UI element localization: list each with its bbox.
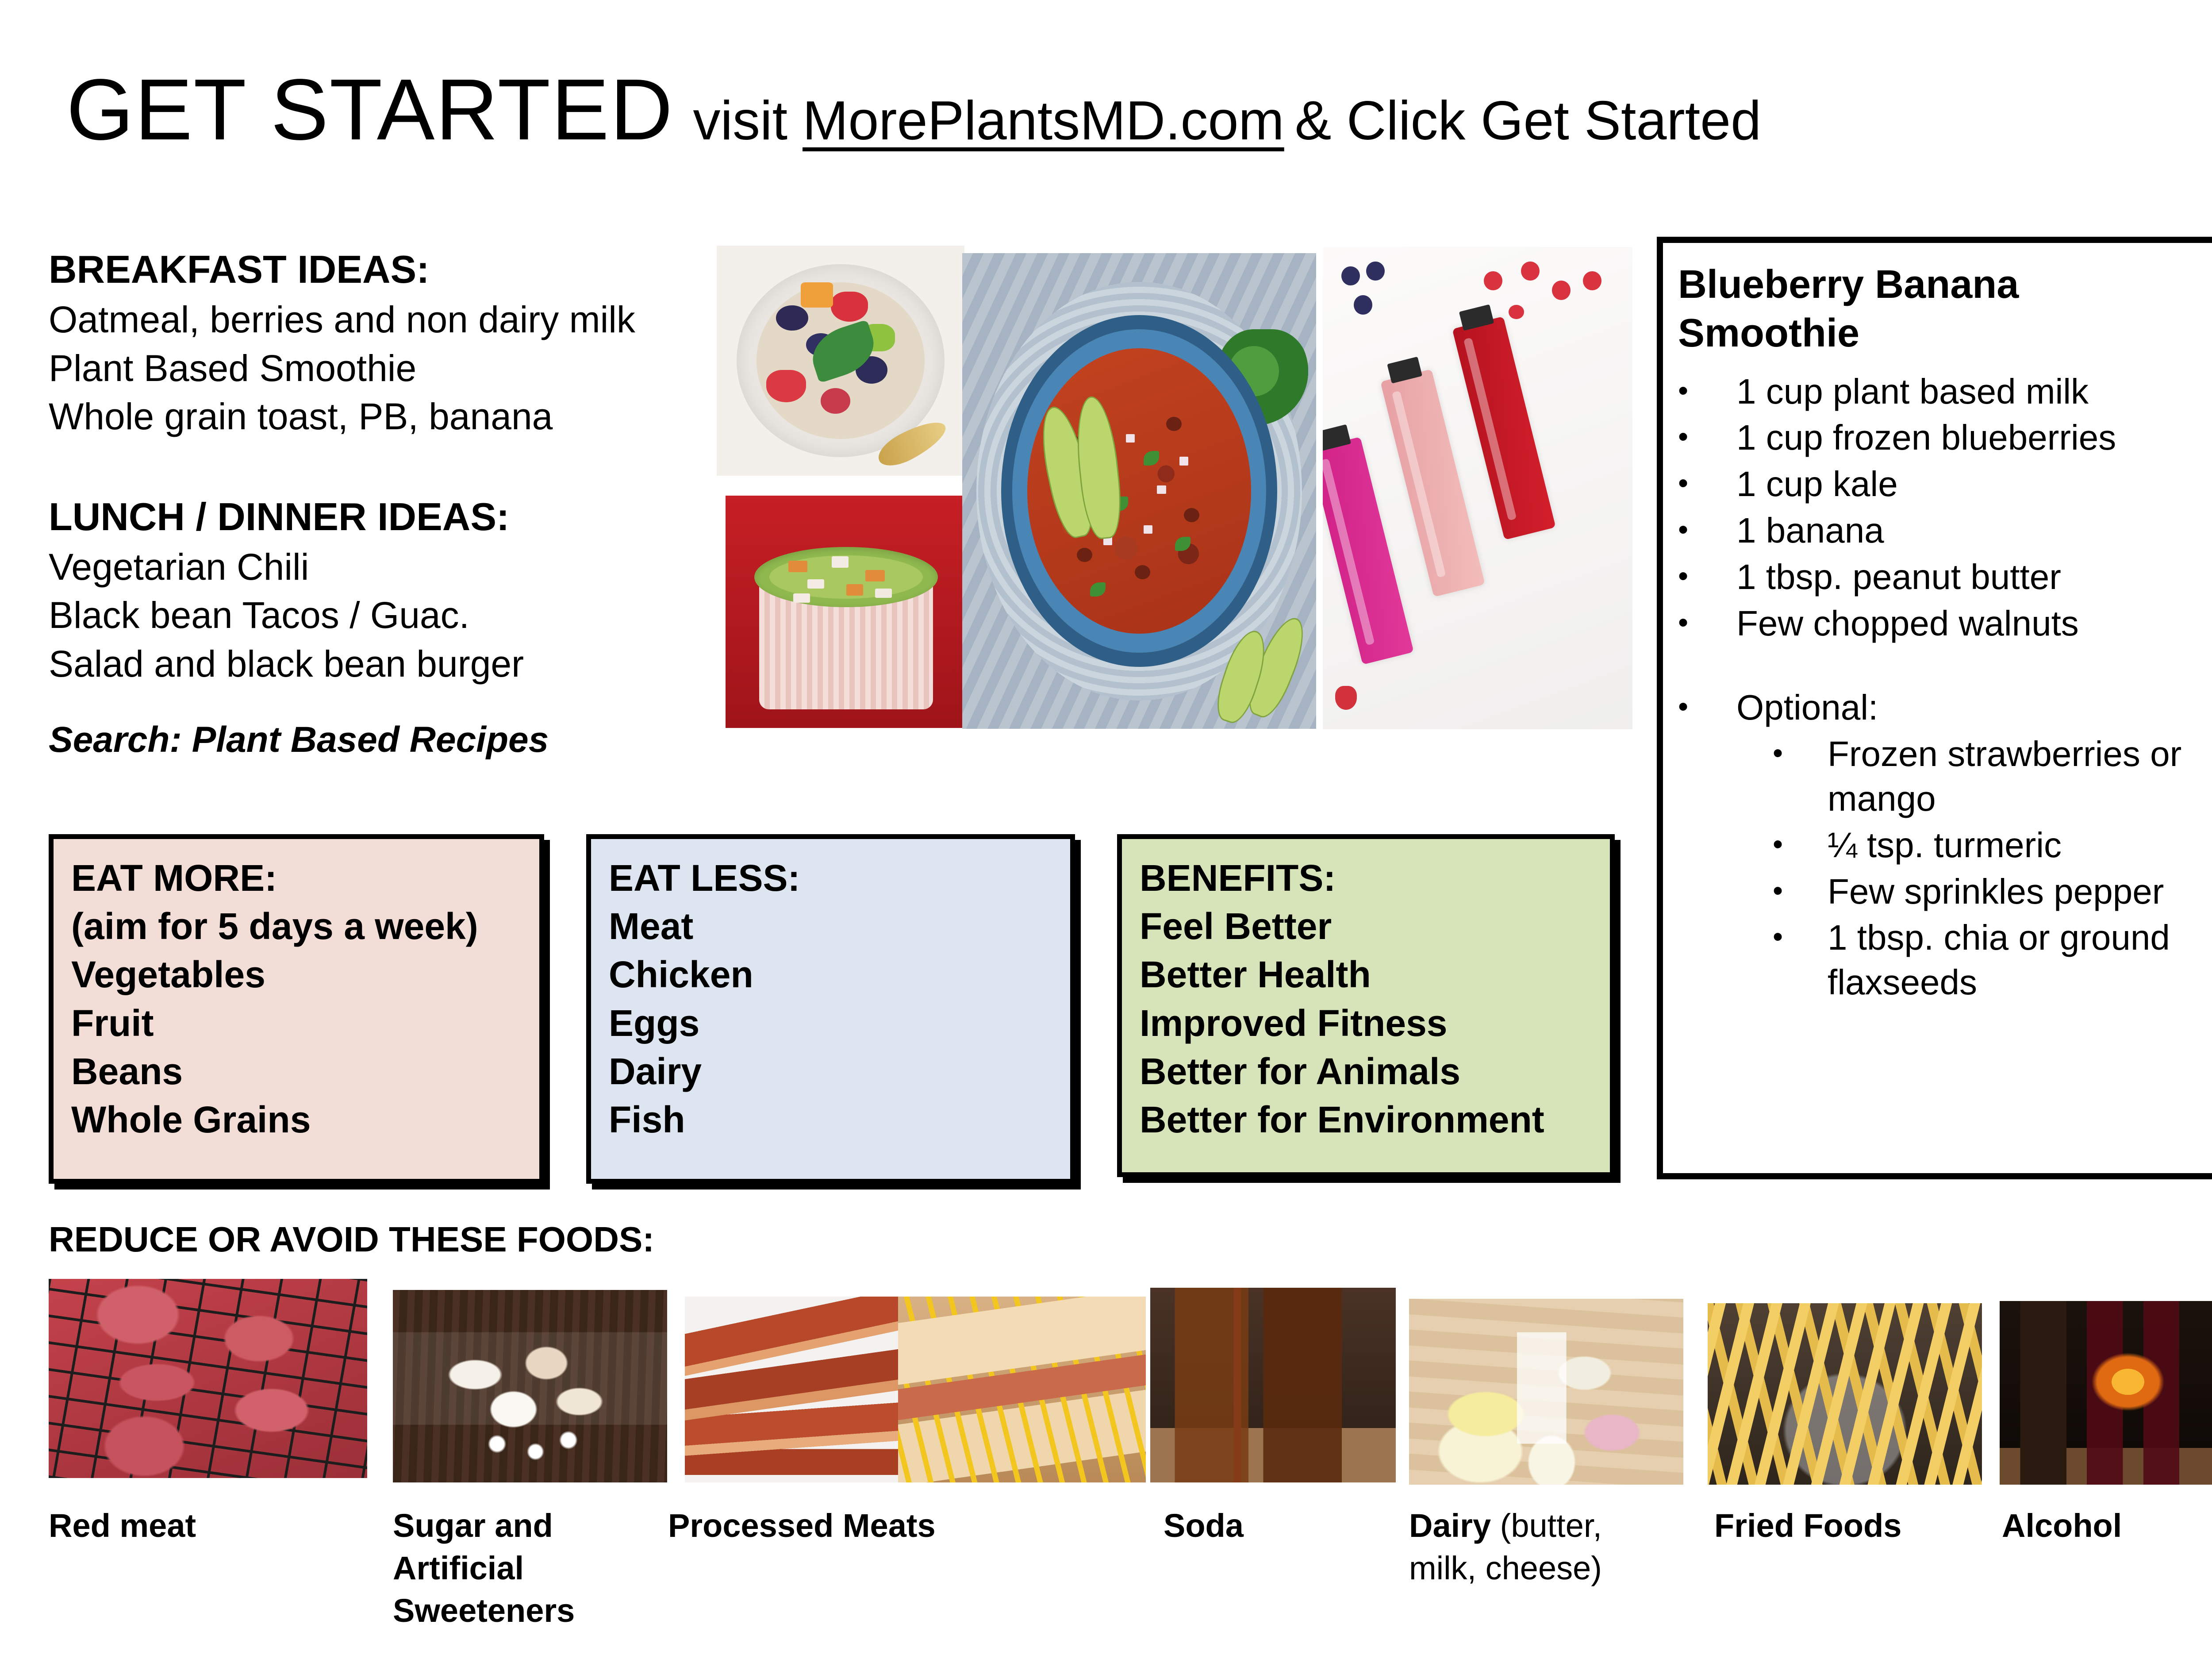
oatmeal-berries-photo	[717, 246, 964, 476]
recipe-item: • 1 cup frozen blueberries	[1678, 416, 2210, 460]
bacon-photo	[685, 1297, 908, 1482]
header-visit-label: visit	[693, 93, 787, 148]
avoid-label-sugar: Sugar and Artificial Sweeteners	[393, 1505, 623, 1632]
lunch-dinner-heading: LUNCH / DINNER IDEAS:	[49, 493, 726, 540]
recipe-spacer	[1678, 647, 2210, 685]
red-meat-photo	[49, 1279, 367, 1478]
eat-less-heading: EAT LESS:	[609, 854, 1052, 902]
benefits-heading: BENEFITS:	[1140, 854, 1592, 902]
eat-less-item: Chicken	[609, 951, 1052, 999]
eat-less-item: Eggs	[609, 999, 1052, 1047]
avoid-label-red-meat: Red meat	[49, 1505, 332, 1547]
recipe-optional-item: • ¼ tsp. turmeric	[1773, 823, 2210, 868]
bullet-icon: •	[1773, 823, 1828, 866]
bullet-icon: •	[1773, 870, 1828, 912]
recipe-item: • 1 banana	[1678, 508, 2210, 553]
breakfast-block: BREAKFAST IDEAS: Oatmeal, berries and no…	[49, 246, 726, 441]
eat-less-box: EAT LESS: Meat Chicken Eggs Dairy Fish	[586, 834, 1075, 1184]
benefits-item: Better Health	[1140, 951, 1592, 999]
bullet-icon: •	[1678, 508, 1736, 551]
eat-less-item: Dairy	[609, 1047, 1052, 1096]
avoid-label-fried-foods: Fried Foods	[1714, 1505, 1962, 1547]
wine-glasses-photo	[2000, 1301, 2212, 1485]
recipe-item: • 1 cup kale	[1678, 462, 2210, 507]
avoid-section-heading: REDUCE OR AVOID THESE FOODS:	[49, 1219, 654, 1260]
eat-more-item: Whole Grains	[71, 1096, 522, 1144]
bullet-icon: •	[1678, 685, 1736, 728]
avoid-label-processed-meats: Processed Meats	[668, 1505, 969, 1547]
header-cta-text: & Click Get Started	[1295, 93, 1761, 148]
recipe-optional-item: • Few sprinkles pepper	[1773, 870, 2210, 914]
bullet-icon: •	[1678, 370, 1736, 412]
bullet-icon: •	[1773, 916, 1828, 958]
website-link[interactable]: MorePlantsMD.com	[803, 93, 1284, 148]
lunch-dinner-block: LUNCH / DINNER IDEAS: Vegetarian Chili B…	[49, 493, 726, 688]
eat-more-heading: EAT MORE:	[71, 854, 522, 902]
hotdog-photo	[898, 1297, 1146, 1482]
soda-glass-photo	[1150, 1288, 1396, 1482]
french-fries-photo	[1708, 1303, 1982, 1485]
benefits-item: Improved Fitness	[1140, 999, 1592, 1047]
avoid-label-soda: Soda	[1164, 1505, 1354, 1547]
bullet-icon: •	[1678, 555, 1736, 597]
breakfast-item: Plant Based Smoothie	[49, 344, 726, 393]
benefits-item: Better for Animals	[1140, 1047, 1592, 1096]
ideas-column: BREAKFAST IDEAS: Oatmeal, berries and no…	[49, 246, 726, 761]
smoothie-recipe-box: Blueberry Banana Smoothie • 1 cup plant …	[1657, 237, 2212, 1179]
lunch-dinner-item: Black bean Tacos / Guac.	[49, 591, 726, 639]
eat-more-item: Beans	[71, 1047, 522, 1096]
breakfast-item: Whole grain toast, PB, banana	[49, 393, 726, 441]
eat-more-item: Vegetables	[71, 951, 522, 999]
page-header: GET STARTED visit MorePlantsMD.com & Cli…	[66, 66, 2212, 199]
search-suggestion: Search: Plant Based Recipes	[49, 719, 726, 761]
smoothie-bottles-photo	[1323, 247, 1632, 729]
recipe-item: • Few chopped walnuts	[1678, 601, 2210, 646]
eat-more-box: EAT MORE: (aim for 5 days a week) Vegeta…	[49, 834, 544, 1184]
bullet-icon: •	[1773, 732, 1828, 774]
eat-less-item: Fish	[609, 1096, 1052, 1144]
bullet-icon: •	[1678, 462, 1736, 504]
bullet-icon: •	[1678, 601, 1736, 644]
bullet-icon: •	[1678, 416, 1736, 458]
eat-less-item: Meat	[609, 902, 1052, 951]
avoid-label-dairy-main: Dairy	[1409, 1507, 1491, 1544]
eat-more-item: Fruit	[71, 999, 522, 1047]
sugar-cubes-photo	[393, 1290, 667, 1482]
guacamole-ramekin-photo	[726, 496, 967, 728]
recipe-item: • 1 cup plant based milk	[1678, 370, 2210, 414]
benefits-item: Feel Better	[1140, 902, 1592, 951]
avoid-label-dairy: Dairy (butter, milk, cheese)	[1409, 1505, 1661, 1590]
recipe-item: • 1 tbsp. peanut butter	[1678, 555, 2210, 600]
avoid-label-alcohol: Alcohol	[2002, 1505, 2212, 1547]
eat-more-subheading: (aim for 5 days a week)	[71, 902, 522, 951]
page-title: GET STARTED	[66, 66, 673, 153]
recipe-optional-item: • Frozen strawberries or mango	[1773, 732, 2210, 821]
recipe-title: Blueberry Banana Smoothie	[1678, 261, 2210, 358]
recipe-optional-heading: • Optional:	[1678, 685, 2210, 730]
breakfast-item: Oatmeal, berries and non dairy milk	[49, 296, 726, 344]
breakfast-heading: BREAKFAST IDEAS:	[49, 246, 726, 293]
lunch-dinner-item: Vegetarian Chili	[49, 543, 726, 591]
benefits-box: BENEFITS: Feel Better Better Health Impr…	[1117, 834, 1615, 1177]
recipe-optional-item: • 1 tbsp. chia or ground flaxseeds	[1773, 916, 2210, 1005]
lunch-dinner-item: Salad and black bean burger	[49, 640, 726, 688]
benefits-item: Better for Environment	[1140, 1096, 1592, 1144]
vegetarian-chili-photo	[962, 253, 1316, 729]
dairy-spread-photo	[1409, 1299, 1683, 1485]
